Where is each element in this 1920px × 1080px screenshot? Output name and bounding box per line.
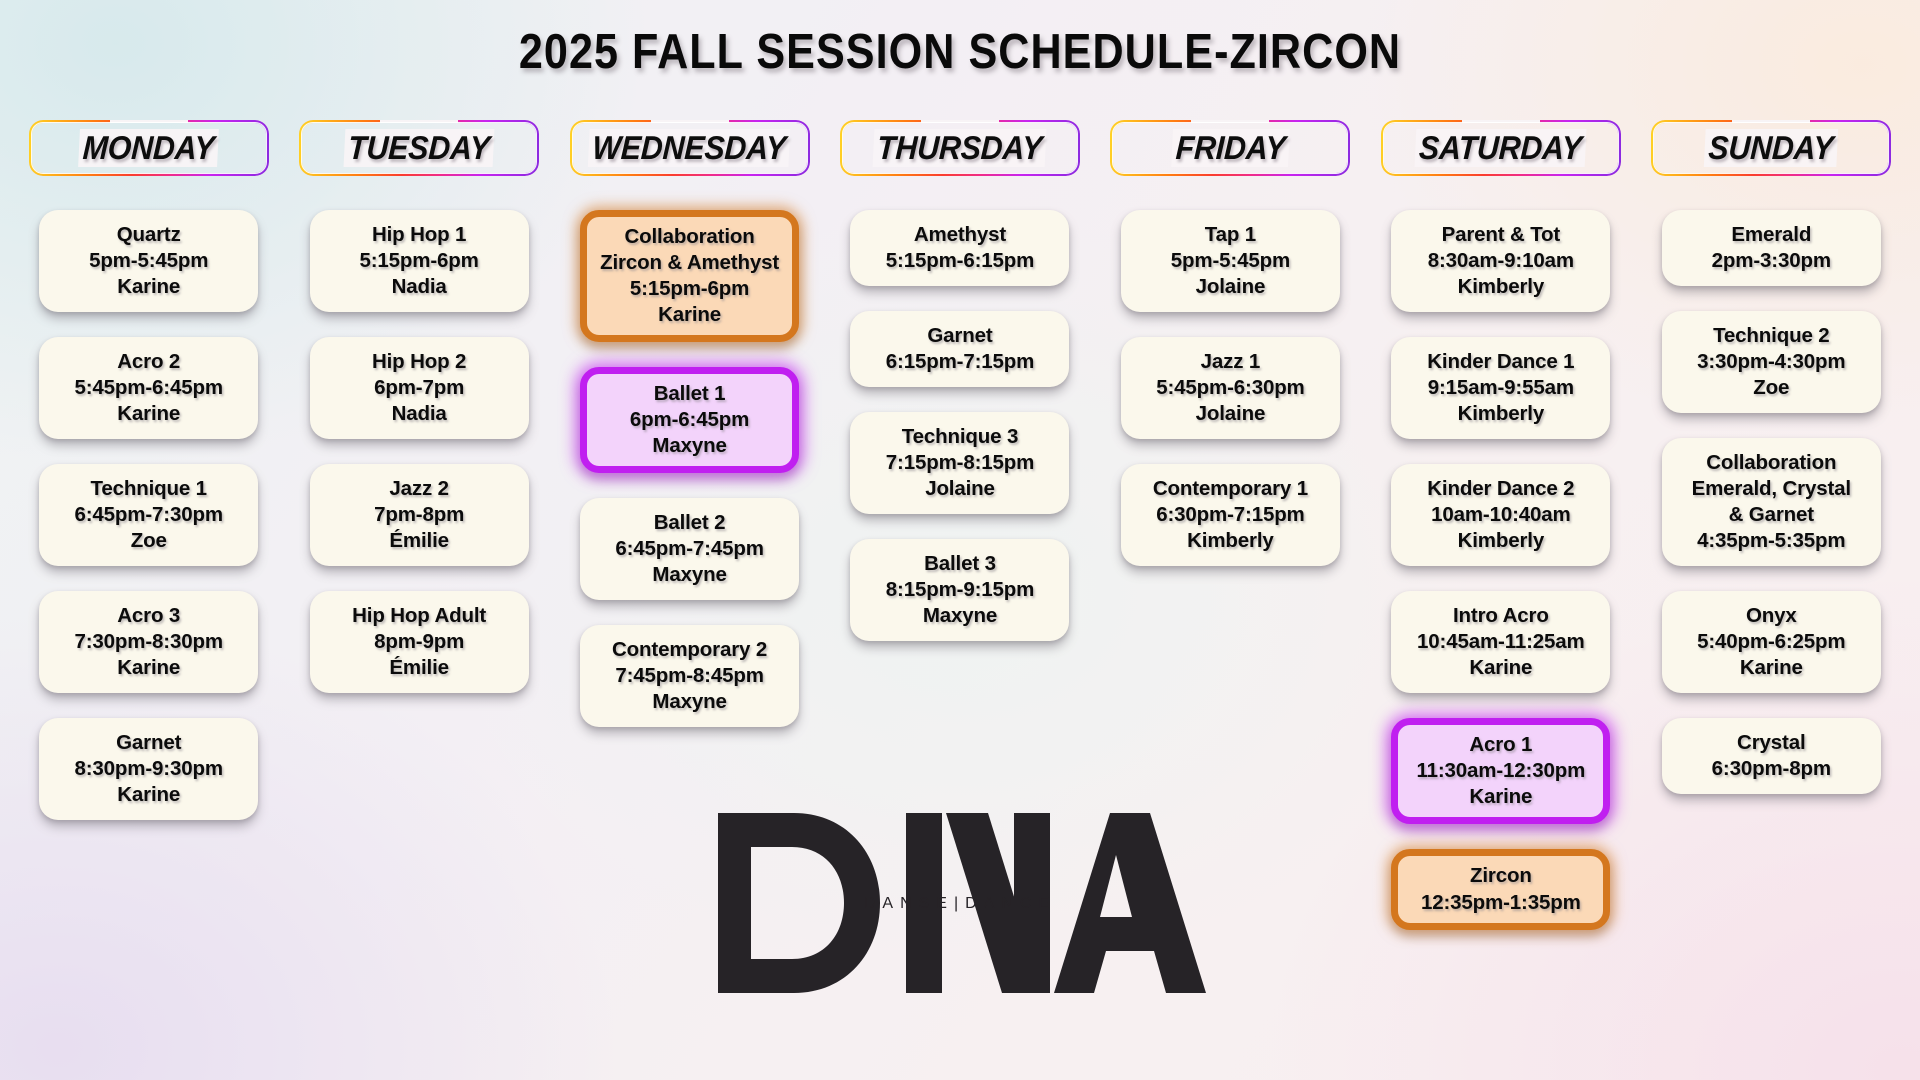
page-title: 2025 FALL SESSION SCHEDULE-ZIRCON <box>115 28 1805 77</box>
class-card[interactable]: Ballet 16pm-6:45pmMaxyne <box>580 367 799 473</box>
class-card[interactable]: Kinder Dance 210am-10:40amKimberly <box>1391 464 1610 566</box>
class-card[interactable]: Acro 25:45pm-6:45pmKarine <box>39 337 258 439</box>
class-name: Quartz <box>48 222 249 248</box>
instructor-name: Maxyne <box>589 562 790 588</box>
instructor-name: Karine <box>592 302 787 328</box>
class-name: Onyx <box>1671 603 1872 629</box>
class-card[interactable]: Technique 37:15pm-8:15pmJolaine <box>850 412 1069 514</box>
instructor-name: Karine <box>48 655 249 681</box>
class-card[interactable]: Technique 23:30pm-4:30pmZoe <box>1662 311 1881 413</box>
class-name: Hip Hop Adult <box>319 603 520 629</box>
class-name: Tap 1 <box>1130 222 1331 248</box>
instructor-name: Karine <box>1403 784 1598 810</box>
instructor-name: Kimberly <box>1400 528 1601 554</box>
class-name: Hip Hop 2 <box>319 349 520 375</box>
class-card[interactable]: Parent & Tot8:30am-9:10amKimberly <box>1391 210 1610 312</box>
class-card[interactable]: Ballet 38:15pm-9:15pmMaxyne <box>850 539 1069 641</box>
class-card[interactable]: Kinder Dance 19:15am-9:55amKimberly <box>1391 337 1610 439</box>
class-card[interactable]: Contemporary 27:45pm-8:45pmMaxyne <box>580 625 799 727</box>
day-header-tuesday: TUESDAY <box>299 120 539 176</box>
class-name: Acro 3 <box>48 603 249 629</box>
day-header-saturday: SATURDAY <box>1381 120 1621 176</box>
instructor-name: Nadia <box>319 274 520 300</box>
class-name: Technique 1 <box>48 476 249 502</box>
class-card[interactable]: Intro Acro10:45am-11:25amKarine <box>1391 591 1610 693</box>
class-card[interactable]: Technique 16:45pm-7:30pmZoe <box>39 464 258 566</box>
class-time: 8:15pm-9:15pm <box>859 577 1060 603</box>
instructor-name: Zoe <box>48 528 249 554</box>
class-time: 7:30pm-8:30pm <box>48 629 249 655</box>
class-time: 10am-10:40am <box>1400 502 1601 528</box>
class-card[interactable]: Emerald2pm-3:30pm <box>1662 210 1881 286</box>
class-card[interactable]: Amethyst5:15pm-6:15pm <box>850 210 1069 286</box>
day-column-thursday: THURSDAYAmethyst5:15pm-6:15pmGarnet6:15p… <box>833 120 1086 955</box>
instructor-name: Jolaine <box>859 476 1060 502</box>
instructor-name: Zoe <box>1671 375 1872 401</box>
day-label: WEDNESDAY <box>588 129 791 167</box>
class-card[interactable]: Acro 111:30am-12:30pmKarine <box>1391 718 1610 824</box>
class-name: Jazz 1 <box>1130 349 1331 375</box>
day-label: FRIDAY <box>1171 129 1290 167</box>
class-time: 8:30pm-9:30pm <box>48 756 249 782</box>
class-time: 8pm-9pm <box>319 629 520 655</box>
class-time: 6:30pm-8pm <box>1671 756 1872 782</box>
class-name: Zircon <box>1403 863 1598 889</box>
instructor-name: Nadia <box>319 401 520 427</box>
class-card[interactable]: Ballet 26:45pm-7:45pmMaxyne <box>580 498 799 600</box>
day-label: SUNDAY <box>1704 129 1838 167</box>
class-name: Acro 2 <box>48 349 249 375</box>
class-name: Ballet 1 <box>592 381 787 407</box>
class-name: Acro 1 <box>1403 732 1598 758</box>
class-card[interactable]: Onyx5:40pm-6:25pmKarine <box>1662 591 1881 693</box>
day-header-sunday: SUNDAY <box>1651 120 1891 176</box>
class-name: Technique 2 <box>1671 323 1872 349</box>
day-header-monday: MONDAY <box>29 120 269 176</box>
day-column-wednesday: WEDNESDAYCollaborationZircon & Amethyst5… <box>563 120 816 955</box>
instructor-name: Kimberly <box>1400 401 1601 427</box>
day-label: MONDAY <box>78 129 219 167</box>
class-time: 5:15pm-6pm <box>592 276 787 302</box>
class-time: 5:15pm-6:15pm <box>859 248 1060 274</box>
class-name: Jazz 2 <box>319 476 520 502</box>
day-label: THURSDAY <box>873 129 1047 167</box>
class-time: 9:15am-9:55am <box>1400 375 1601 401</box>
class-time: Emerald, Crystal <box>1671 476 1872 502</box>
class-name: Amethyst <box>859 222 1060 248</box>
class-name: Parent & Tot <box>1400 222 1601 248</box>
class-time: 4:35pm-5:35pm <box>1671 528 1872 554</box>
class-card[interactable]: Acro 37:30pm-8:30pmKarine <box>39 591 258 693</box>
instructor-name: Kimberly <box>1400 274 1601 300</box>
day-column-tuesday: TUESDAYHip Hop 15:15pm-6pmNadiaHip Hop 2… <box>292 120 545 955</box>
class-name: Ballet 2 <box>589 510 790 536</box>
instructor-name: Émilie <box>319 655 520 681</box>
class-time: 8:30am-9:10am <box>1400 248 1601 274</box>
class-card[interactable]: Jazz 27pm-8pmÉmilie <box>310 464 529 566</box>
day-header-wednesday: WEDNESDAY <box>570 120 810 176</box>
class-card[interactable]: Hip Hop Adult8pm-9pmÉmilie <box>310 591 529 693</box>
class-card[interactable]: Contemporary 16:30pm-7:15pmKimberly <box>1121 464 1340 566</box>
class-time: 6:15pm-7:15pm <box>859 349 1060 375</box>
class-time: 7:45pm-8:45pm <box>589 663 790 689</box>
class-time: 3:30pm-4:30pm <box>1671 349 1872 375</box>
class-name: Collaboration <box>592 224 787 250</box>
class-time: 7:15pm-8:15pm <box>859 450 1060 476</box>
class-name: Collaboration <box>1671 450 1872 476</box>
class-time: 2pm-3:30pm <box>1671 248 1872 274</box>
instructor-name: Karine <box>1400 655 1601 681</box>
class-card[interactable]: Jazz 15:45pm-6:30pmJolaine <box>1121 337 1340 439</box>
class-card[interactable]: Tap 15pm-5:45pmJolaine <box>1121 210 1340 312</box>
day-header-friday: FRIDAY <box>1110 120 1350 176</box>
day-column-sunday: SUNDAYEmerald2pm-3:30pmTechnique 23:30pm… <box>1645 120 1898 955</box>
class-card[interactable]: Hip Hop 26pm-7pmNadia <box>310 337 529 439</box>
class-card[interactable]: Crystal6:30pm-8pm <box>1662 718 1881 794</box>
instructor-name: Jolaine <box>1130 274 1331 300</box>
class-time: 5:45pm-6:30pm <box>1130 375 1331 401</box>
schedule-grid: MONDAYQuartz5pm-5:45pmKarineAcro 25:45pm… <box>22 120 1898 955</box>
instructor-name: Karine <box>48 401 249 427</box>
class-time: Zircon & Amethyst <box>592 250 787 276</box>
instructor-name: Maxyne <box>592 433 787 459</box>
day-header-thursday: THURSDAY <box>840 120 1080 176</box>
day-column-saturday: SATURDAYParent & Tot8:30am-9:10amKimberl… <box>1374 120 1627 955</box>
class-name: Emerald <box>1671 222 1872 248</box>
class-time: 6:30pm-7:15pm <box>1130 502 1331 528</box>
class-name: Technique 3 <box>859 424 1060 450</box>
day-label: SATURDAY <box>1415 129 1587 167</box>
class-name: Intro Acro <box>1400 603 1601 629</box>
class-card[interactable]: CollaborationZircon & Amethyst5:15pm-6pm… <box>580 210 799 342</box>
instructor-name: Karine <box>1671 655 1872 681</box>
instructor-name: Kimberly <box>1130 528 1331 554</box>
instructor-name: Émilie <box>319 528 520 554</box>
class-name: Ballet 3 <box>859 551 1060 577</box>
class-card[interactable]: CollaborationEmerald, Crystal& Garnet4:3… <box>1662 438 1881 566</box>
instructor-name: Maxyne <box>589 689 790 715</box>
class-time: 6:45pm-7:30pm <box>48 502 249 528</box>
class-time: 5:45pm-6:45pm <box>48 375 249 401</box>
instructor-name: Karine <box>48 782 249 808</box>
class-card[interactable]: Zircon12:35pm-1:35pm <box>1391 849 1610 929</box>
day-label: TUESDAY <box>344 129 495 167</box>
day-column-monday: MONDAYQuartz5pm-5:45pmKarineAcro 25:45pm… <box>22 120 275 955</box>
instructor-name: Maxyne <box>859 603 1060 629</box>
class-name: Contemporary 2 <box>589 637 790 663</box>
class-card[interactable]: Hip Hop 15:15pm-6pmNadia <box>310 210 529 312</box>
class-time: 5pm-5:45pm <box>48 248 249 274</box>
class-time: 6pm-7pm <box>319 375 520 401</box>
class-card[interactable]: Quartz5pm-5:45pmKarine <box>39 210 258 312</box>
class-card[interactable]: Garnet8:30pm-9:30pmKarine <box>39 718 258 820</box>
day-column-friday: FRIDAYTap 15pm-5:45pmJolaineJazz 15:45pm… <box>1104 120 1357 955</box>
class-time: 10:45am-11:25am <box>1400 629 1601 655</box>
class-name: Garnet <box>859 323 1060 349</box>
class-time: 5:40pm-6:25pm <box>1671 629 1872 655</box>
class-name: Kinder Dance 2 <box>1400 476 1601 502</box>
class-card[interactable]: Garnet6:15pm-7:15pm <box>850 311 1069 387</box>
instructor-name: Karine <box>48 274 249 300</box>
class-time: 6pm-6:45pm <box>592 407 787 433</box>
class-name: Contemporary 1 <box>1130 476 1331 502</box>
class-time: 5:15pm-6pm <box>319 248 520 274</box>
class-time: 6:45pm-7:45pm <box>589 536 790 562</box>
class-name: Garnet <box>48 730 249 756</box>
class-name: Crystal <box>1671 730 1872 756</box>
class-name: Kinder Dance 1 <box>1400 349 1601 375</box>
class-time: 12:35pm-1:35pm <box>1403 890 1598 916</box>
instructor-name: Jolaine <box>1130 401 1331 427</box>
class-time: 11:30am-12:30pm <box>1403 758 1598 784</box>
class-time: 5pm-5:45pm <box>1130 248 1331 274</box>
class-time: & Garnet <box>1671 502 1872 528</box>
class-time: 7pm-8pm <box>319 502 520 528</box>
class-name: Hip Hop 1 <box>319 222 520 248</box>
